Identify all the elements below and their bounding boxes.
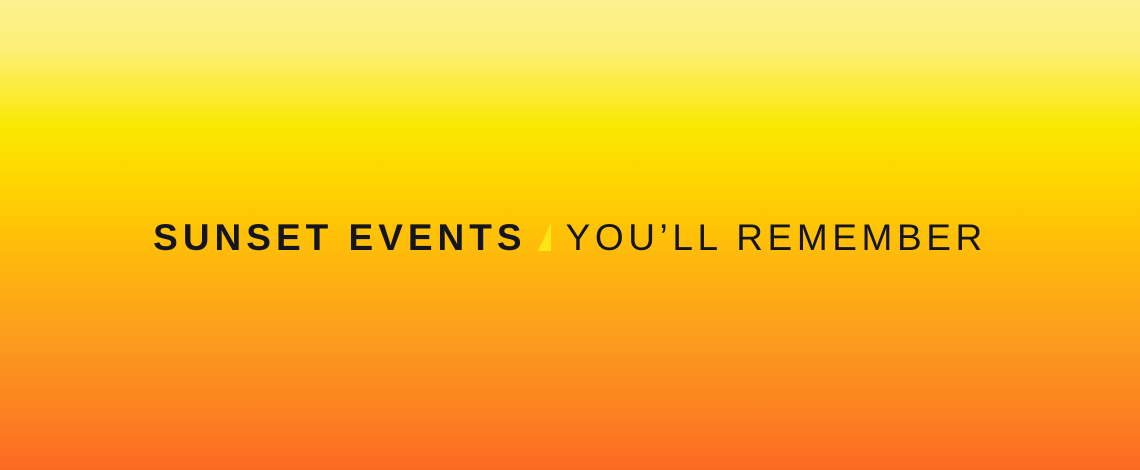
slash-wedge-icon [531,217,557,257]
headline: SUNSET EVENTS YOU’LL REMEMBER [0,212,1140,262]
headline-light-text: YOU’LL REMEMBER [563,219,987,256]
sunset-events-banner: SUNSET EVENTS YOU’LL REMEMBER [0,0,1140,470]
headline-strong-text: SUNSET EVENTS [153,219,528,256]
